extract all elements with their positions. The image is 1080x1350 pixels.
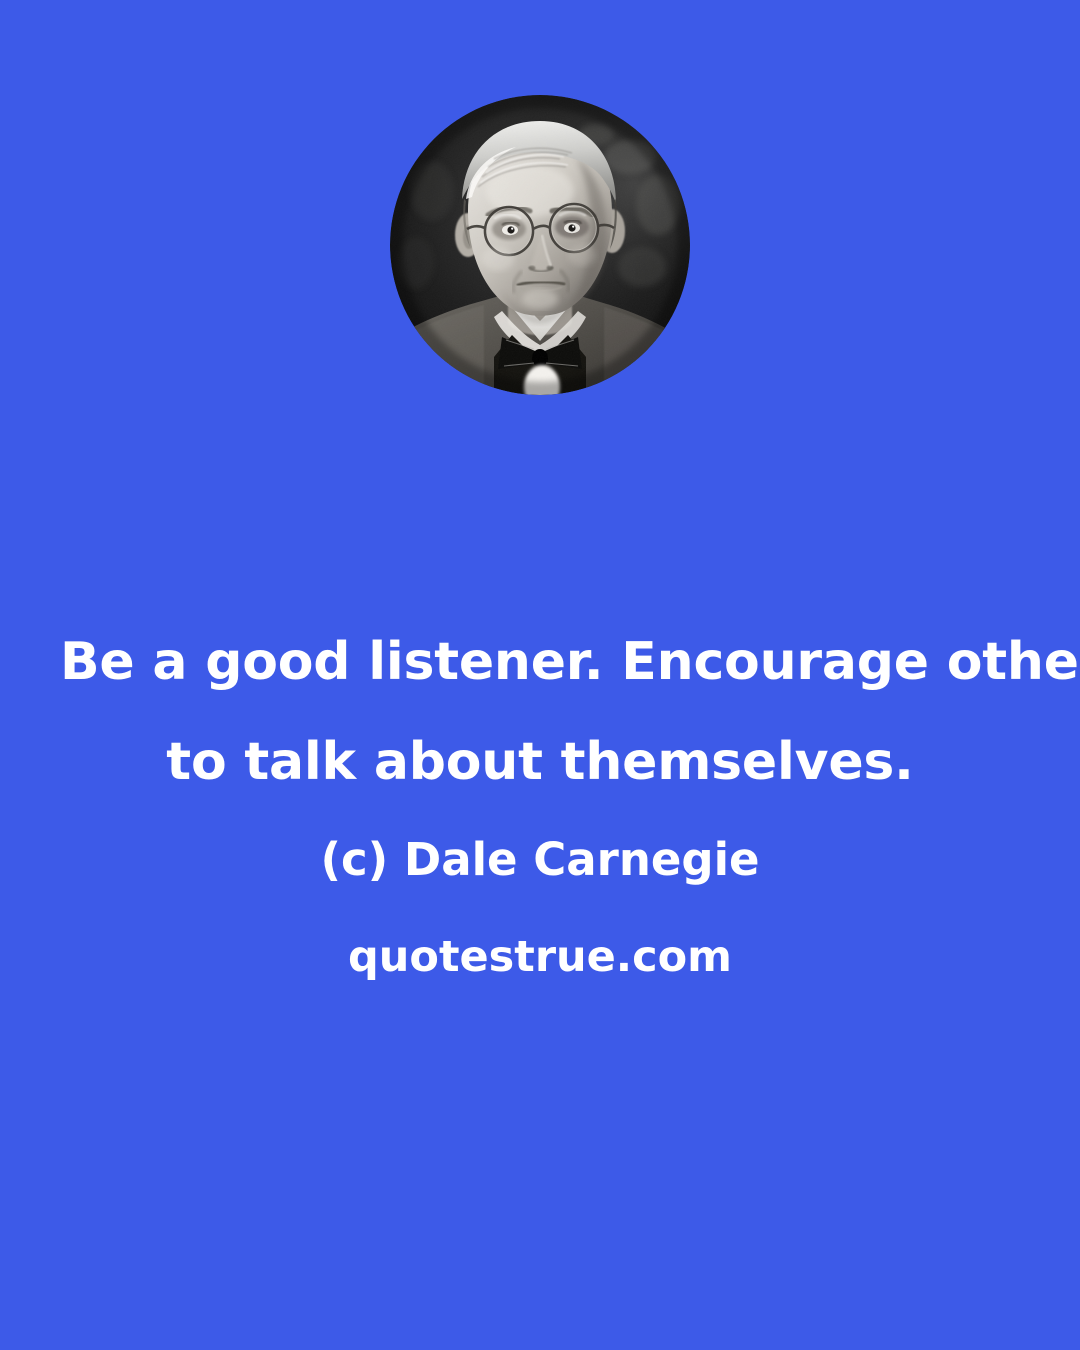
quote-text-block: Be a good listener. Encourage others to … (0, 612, 1080, 1006)
author-portrait (390, 95, 690, 395)
quote-line-1: Be a good listener. Encourage others (60, 612, 1020, 712)
website-credit: quotestrue.com (60, 908, 1020, 1006)
author-portrait-photo (390, 95, 690, 395)
quote-attribution: (c) Dale Carnegie (60, 812, 1020, 908)
quote-line-2: to talk about themselves. (60, 712, 1020, 812)
